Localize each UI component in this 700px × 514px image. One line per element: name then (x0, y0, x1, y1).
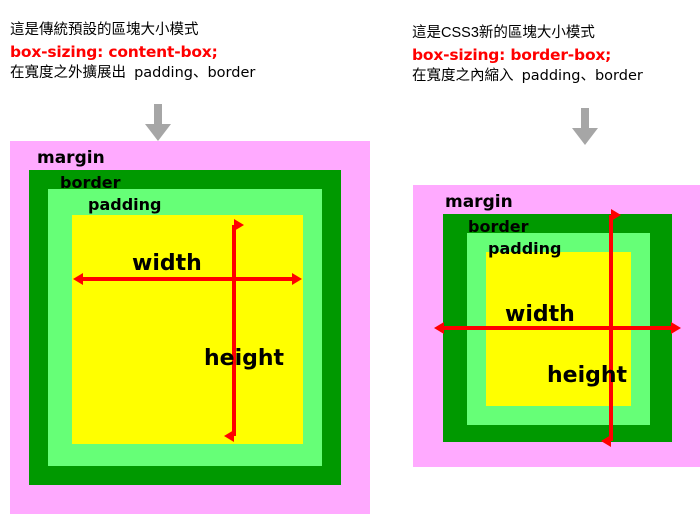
caption-content-box: 這是傳統預設的區塊大小模式 box-sizing: content-box; 在… (10, 20, 255, 85)
caption-border-box: 這是CSS3新的區塊大小模式 box-sizing: border-box; 在… (412, 23, 643, 88)
caption-line-1: 這是CSS3新的區塊大小模式 (412, 23, 643, 44)
caption-line-3-bold: 在寬度之內縮入 (412, 68, 514, 84)
gray-down-arrow-right (570, 108, 600, 146)
caption-line-3-light: padding、border (522, 68, 643, 84)
gray-down-arrow-left (143, 104, 173, 142)
caption-line-1: 這是傳統預設的區塊大小模式 (10, 20, 255, 41)
caption-line-3: 在寬度之內縮入 padding、border (412, 66, 643, 87)
caption-line-3-light: padding、border (134, 65, 255, 81)
caption-code-declaration: box-sizing: content-box; (10, 41, 255, 63)
width-label: width (505, 302, 575, 327)
caption-line-3-bold: 在寬度之外擴展出 (10, 65, 126, 81)
caption-line-3: 在寬度之外擴展出 padding、border (10, 63, 255, 84)
diagram-canvas: 這是傳統預設的區塊大小模式 box-sizing: content-box; 在… (0, 0, 700, 514)
height-label: height (204, 346, 284, 371)
caption-code-declaration: box-sizing: border-box; (412, 44, 643, 66)
height-measure-arrow (10, 141, 370, 514)
height-label: height (547, 363, 627, 388)
box-model-content-box: margin border padding (10, 141, 370, 514)
width-label: width (132, 251, 202, 276)
box-model-border-box: margin border padding (413, 185, 700, 467)
